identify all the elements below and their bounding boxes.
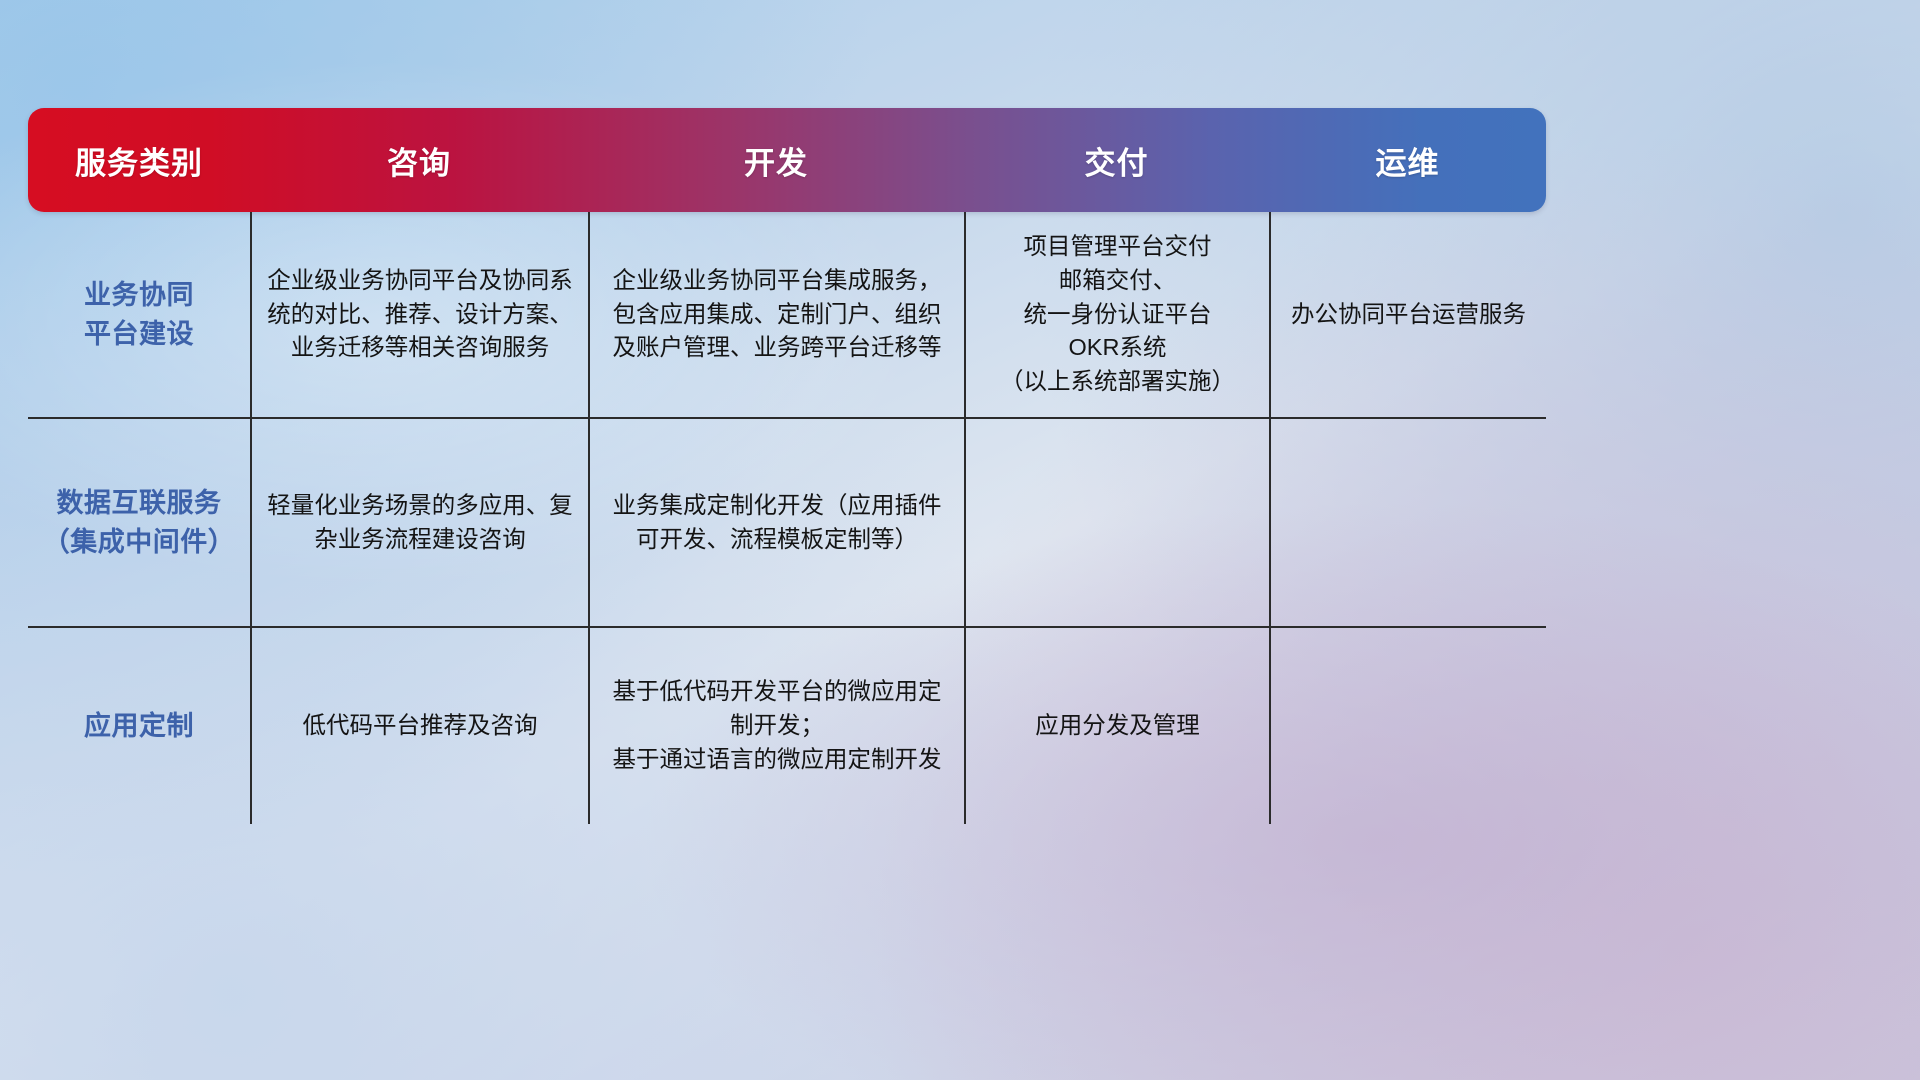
cell-r3-consulting: 低代码平台推荐及咨询 — [250, 628, 588, 824]
table-header-row: 服务类别 咨询 开发 交付 运维 — [28, 108, 1546, 212]
row-label-app-customization: 应用定制 — [28, 628, 250, 824]
header-cell-development: 开发 — [588, 138, 964, 183]
row-label-data-interconnect: 数据互联服务（集成中间件） — [28, 419, 250, 626]
table-row: 应用定制 低代码平台推荐及咨询 基于低代码开发平台的微应用定制开发；基于通过语言… — [28, 626, 1546, 824]
service-matrix-table: 服务类别 咨询 开发 交付 运维 业务协同平台建设 企业级业务协同平台及协同系统… — [28, 108, 1546, 778]
cell-r2-development: 业务集成定制化开发（应用插件可开发、流程模板定制等） — [588, 419, 964, 626]
header-cell-consulting: 咨询 — [250, 138, 588, 183]
cell-r3-delivery: 应用分发及管理 — [964, 628, 1269, 824]
table-row: 业务协同平台建设 企业级业务协同平台及协同系统的对比、推荐、设计方案、业务迁移等… — [28, 212, 1546, 417]
cell-r1-development: 企业级业务协同平台集成服务，包含应用集成、定制门户、组织及账户管理、业务跨平台迁… — [588, 212, 964, 417]
cell-r2-operations — [1269, 419, 1546, 626]
cell-r3-operations — [1269, 628, 1546, 824]
cell-r3-development: 基于低代码开发平台的微应用定制开发；基于通过语言的微应用定制开发 — [588, 628, 964, 824]
cell-r1-consulting: 企业级业务协同平台及协同系统的对比、推荐、设计方案、业务迁移等相关咨询服务 — [250, 212, 588, 417]
header-cell-category: 服务类别 — [28, 138, 250, 183]
row-label-business-collaboration: 业务协同平台建设 — [28, 212, 250, 417]
cell-r2-consulting: 轻量化业务场景的多应用、复杂业务流程建设咨询 — [250, 419, 588, 626]
header-cell-operations: 运维 — [1269, 138, 1546, 183]
table-body: 业务协同平台建设 企业级业务协同平台及协同系统的对比、推荐、设计方案、业务迁移等… — [28, 212, 1546, 824]
cell-r1-delivery: 项目管理平台交付邮箱交付、统一身份认证平台OKR系统（以上系统部署实施） — [964, 212, 1269, 417]
cell-r1-operations: 办公协同平台运营服务 — [1269, 212, 1546, 417]
cell-r2-delivery — [964, 419, 1269, 626]
header-cell-delivery: 交付 — [964, 138, 1269, 183]
table-row: 数据互联服务（集成中间件） 轻量化业务场景的多应用、复杂业务流程建设咨询 业务集… — [28, 417, 1546, 626]
